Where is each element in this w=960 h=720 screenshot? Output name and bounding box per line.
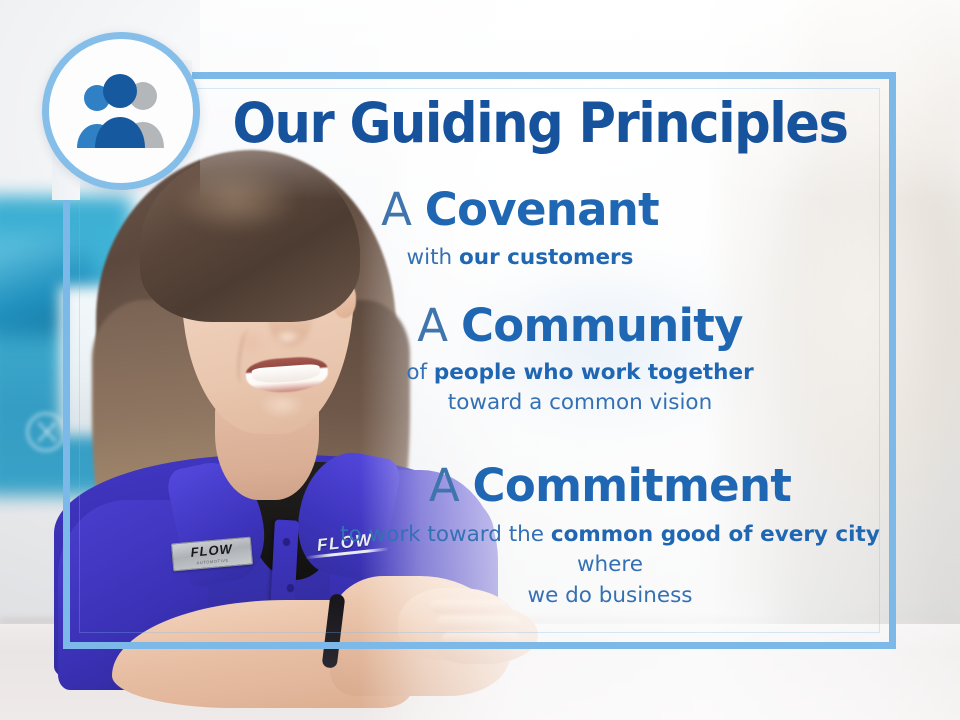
principle-word: Covenant xyxy=(425,183,659,236)
principle-title: A Community xyxy=(300,302,860,350)
principle-title: A Commitment xyxy=(330,462,890,510)
principle-subtitle: to work toward the common good of every … xyxy=(330,520,890,612)
principle-lead: A xyxy=(417,299,461,352)
principle-lead: A xyxy=(381,183,425,236)
principle-community: A Community of people who work togethert… xyxy=(300,302,860,419)
principle-word: Community xyxy=(461,299,743,352)
name-badge-text: FLOW xyxy=(190,542,233,559)
people-group-icon xyxy=(69,72,173,150)
principle-subtitle: with our customers xyxy=(300,243,740,274)
finger xyxy=(442,632,520,645)
principle-covenant: A Covenant with our customers xyxy=(300,186,740,273)
shirt-button-bottom xyxy=(287,584,294,591)
people-badge xyxy=(42,32,200,190)
principle-title: A Covenant xyxy=(300,186,740,234)
principle-commitment: A Commitment to work toward the common g… xyxy=(330,462,890,611)
principle-lead: A xyxy=(429,459,473,512)
page-title: Our Guiding Principles xyxy=(224,95,856,151)
finger xyxy=(436,616,520,629)
principle-word: Commitment xyxy=(473,459,792,512)
guiding-principles-banner: FLOW AUTOMOTIVE FLOW xyxy=(0,0,960,720)
shirt-button-top xyxy=(283,538,290,545)
principle-subtitle: of people who work togethertoward a comm… xyxy=(300,358,860,419)
